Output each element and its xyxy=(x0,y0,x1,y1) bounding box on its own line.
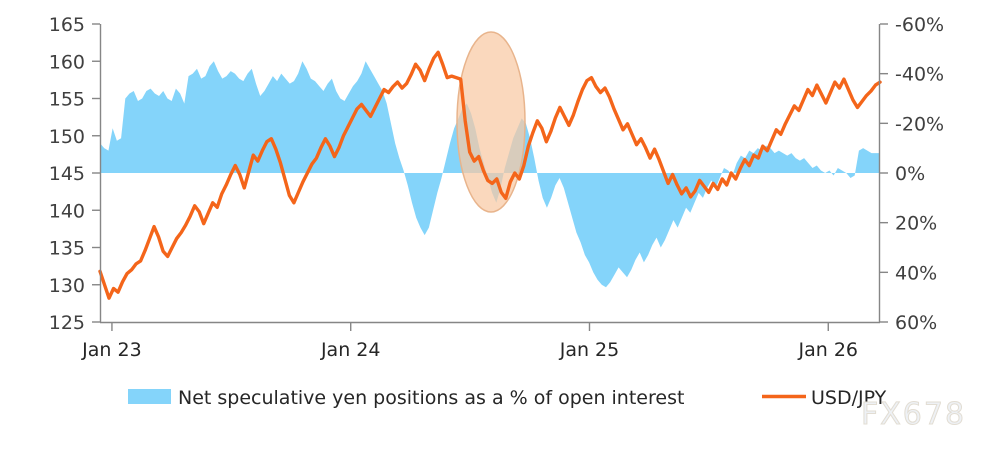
left-tick-label-6: 155 xyxy=(49,89,85,111)
legend-swatch-net-positions[interactable] xyxy=(128,389,171,404)
right-tick-label-0: -60% xyxy=(895,14,944,36)
left-axis-ticks: 125130135140145150155160165 xyxy=(49,14,100,334)
x-tick-label-2: Jan 25 xyxy=(559,339,620,361)
usdjpy-yen-positioning-chart: 125130135140145150155160165 -60%-40%-20%… xyxy=(0,0,989,452)
x-tick-label-0: Jan 23 xyxy=(81,339,142,361)
x-tick-label-3: Jan 26 xyxy=(798,339,859,361)
left-tick-label-4: 145 xyxy=(49,163,85,185)
right-tick-label-2: -20% xyxy=(895,113,944,135)
left-tick-label-7: 160 xyxy=(49,51,85,73)
x-axis-ticks: Jan 23Jan 24Jan 25Jan 26 xyxy=(81,322,858,361)
highlight-ellipse-annotation xyxy=(457,32,525,212)
left-tick-label-3: 140 xyxy=(49,200,85,222)
chart-legend: Net speculative yen positions as a % of … xyxy=(128,387,887,409)
right-tick-label-3: 0% xyxy=(895,163,925,185)
right-axis-ticks: -60%-40%-20%0%20%40%60% xyxy=(880,14,944,334)
left-tick-label-5: 150 xyxy=(49,126,85,148)
legend-label-net-positions: Net speculative yen positions as a % of … xyxy=(178,387,684,409)
right-tick-label-4: 20% xyxy=(895,213,937,235)
left-tick-label-8: 165 xyxy=(49,14,85,36)
chart-container: 125130135140145150155160165 -60%-40%-20%… xyxy=(0,0,989,452)
right-tick-label-5: 40% xyxy=(895,262,937,284)
fx678-watermark: FX678 xyxy=(861,397,966,432)
left-tick-label-1: 130 xyxy=(49,275,85,297)
x-tick-label-1: Jan 24 xyxy=(320,339,381,361)
right-tick-label-1: -40% xyxy=(895,64,944,86)
right-tick-label-6: 60% xyxy=(895,312,937,334)
left-tick-label-2: 135 xyxy=(49,238,85,260)
left-tick-label-0: 125 xyxy=(49,312,85,334)
